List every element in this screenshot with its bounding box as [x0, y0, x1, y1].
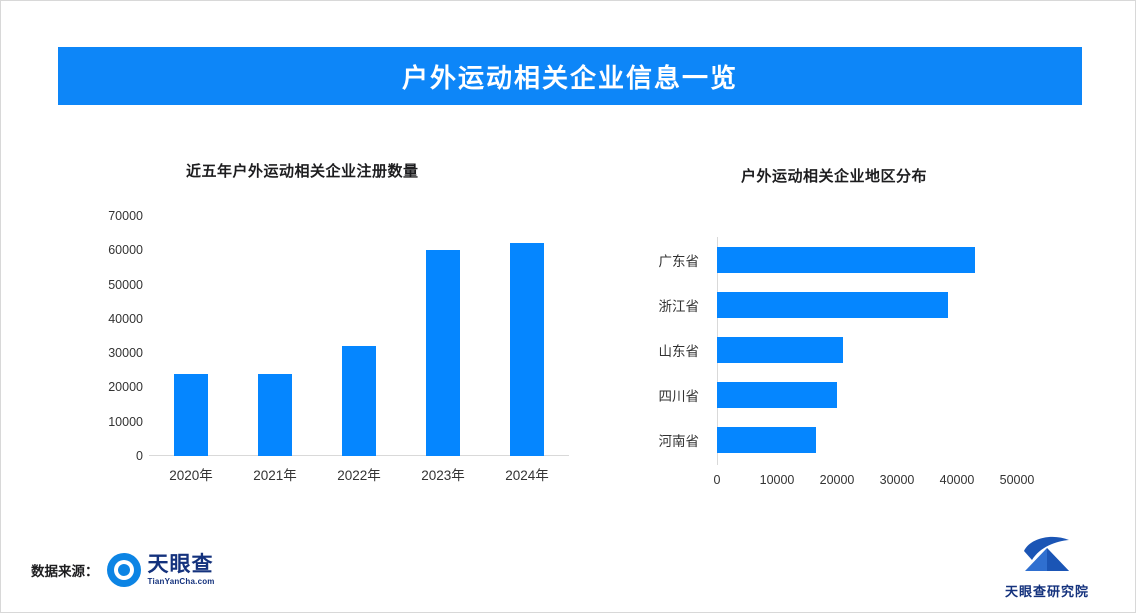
bar-row: 浙江省 [621, 290, 1061, 320]
bar-column [233, 216, 317, 456]
tianyancha-logo-text: 天眼查 TianYanCha.com [148, 554, 215, 586]
bar [717, 427, 816, 453]
y-tick-label: 70000 [108, 209, 143, 223]
bar [342, 346, 376, 456]
bar-row: 广东省 [621, 245, 1061, 275]
y-axis-tick-labels: 010000200003000040000500006000070000 [61, 216, 143, 456]
infographic-page: 户外运动相关企业信息一览 近五年户外运动相关企业注册数量 户外运动相关企业地区分… [0, 0, 1136, 613]
x-tick-label: 2024年 [505, 464, 549, 484]
bar-column [317, 216, 401, 456]
x-tick-label: 10000 [760, 473, 795, 487]
bar [258, 374, 292, 456]
bar [717, 337, 843, 363]
h-x-axis-tick-labels: 01000020000300004000050000 [717, 469, 1037, 493]
bar [174, 374, 208, 456]
y-tick-label: 0 [136, 449, 143, 463]
y-tick-label: 10000 [108, 415, 143, 429]
x-tick-label: 2023年 [421, 464, 465, 484]
right-chart-title: 户外运动相关企业地区分布 [741, 165, 927, 186]
y-tick-label: 50000 [108, 278, 143, 292]
header-banner: 户外运动相关企业信息一览 [58, 47, 1082, 105]
bar-row: 河南省 [621, 425, 1061, 455]
category-label: 四川省 [621, 385, 699, 405]
x-tick-label: 30000 [880, 473, 915, 487]
bar [510, 243, 544, 456]
x-tick-label: 20000 [820, 473, 855, 487]
x-axis-category-labels: 2020年2021年2022年2023年2024年 [149, 460, 569, 486]
bar [426, 250, 460, 456]
category-label: 山东省 [621, 340, 699, 360]
x-tick-label: 2021年 [253, 464, 297, 484]
research-institute-icon [1020, 531, 1074, 577]
bar [717, 292, 948, 318]
bar [717, 247, 975, 273]
bar-column [401, 216, 485, 456]
y-tick-label: 30000 [108, 346, 143, 360]
tianyancha-logo-cn: 天眼查 [148, 554, 215, 575]
research-institute-name: 天眼查研究院 [1005, 581, 1089, 600]
x-tick-label: 0 [714, 473, 721, 487]
tianyancha-eye-icon [107, 553, 141, 587]
data-source-label: 数据来源： [31, 560, 99, 580]
data-source-footer: 数据来源： 天眼查 TianYanCha.com [31, 553, 215, 587]
research-institute-brand: 天眼查研究院 [991, 531, 1103, 600]
y-tick-label: 40000 [108, 312, 143, 326]
vertical-bars-plot-area [149, 216, 569, 456]
x-tick-label: 2020年 [169, 464, 213, 484]
bar [717, 382, 837, 408]
tianyancha-logo: 天眼查 TianYanCha.com [107, 553, 215, 587]
x-tick-label: 40000 [940, 473, 975, 487]
x-tick-label: 2022年 [337, 464, 381, 484]
category-label: 浙江省 [621, 295, 699, 315]
region-distribution-bar-chart: 广东省浙江省山东省四川省河南省 010000200003000040000500… [621, 237, 1061, 507]
bar-column [485, 216, 569, 456]
x-tick-label: 50000 [1000, 473, 1035, 487]
page-title: 户外运动相关企业信息一览 [402, 58, 738, 95]
y-tick-label: 20000 [108, 380, 143, 394]
category-label: 广东省 [621, 250, 699, 270]
category-label: 河南省 [621, 430, 699, 450]
y-tick-label: 60000 [108, 243, 143, 257]
tianyancha-logo-en: TianYanCha.com [148, 578, 215, 586]
bar-row: 山东省 [621, 335, 1061, 365]
registration-bar-chart: 010000200003000040000500006000070000 202… [61, 216, 581, 501]
bar-row: 四川省 [621, 380, 1061, 410]
bar-column [149, 216, 233, 456]
left-chart-title: 近五年户外运动相关企业注册数量 [186, 160, 419, 181]
